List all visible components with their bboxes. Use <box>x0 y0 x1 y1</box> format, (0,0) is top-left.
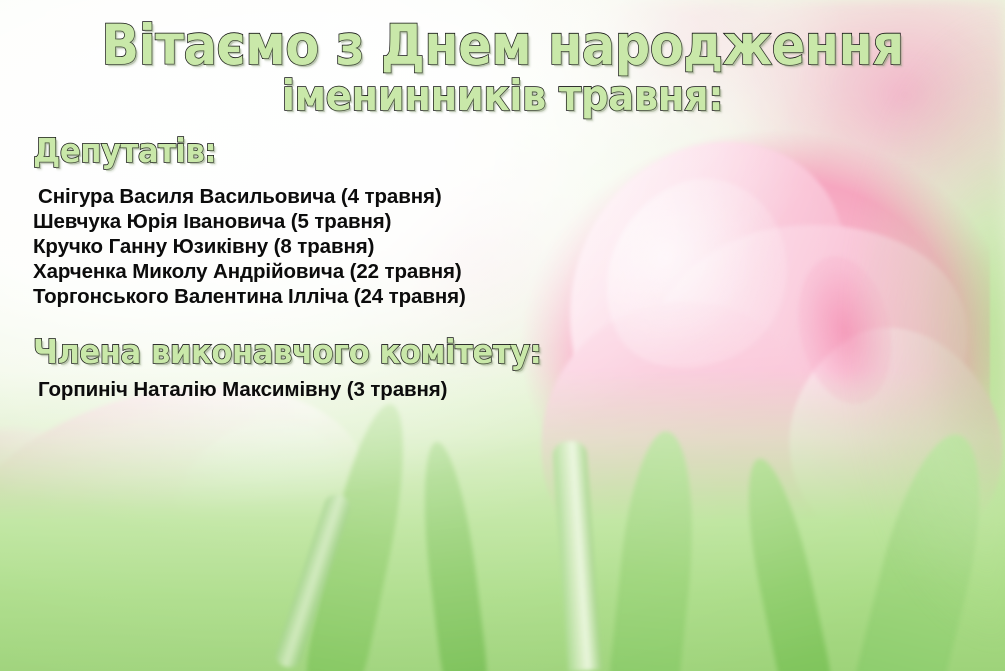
list-item: Кручко Ганну Юзиківну (8 травня) <box>33 234 466 259</box>
section-heading-deputies: Депутатів: <box>33 133 216 168</box>
deputies-name-list: Снігура Василя Васильовича (4 травня) Ше… <box>33 184 466 309</box>
list-item: Горпиніч Наталію Максимівну (3 травня) <box>33 377 447 402</box>
card-title-line-1: Вітаємо з Днем народження <box>50 16 955 74</box>
section-heading-committee: Члена виконавчого комітету: <box>33 334 541 369</box>
list-item: Шевчука Юрія Івановича (5 травня) <box>33 209 466 234</box>
list-item: Харченка Миколу Андрійовича (22 травня) <box>33 259 466 284</box>
card-title-line-2: іменинників травня: <box>40 73 965 118</box>
committee-name-list: Горпиніч Наталію Максимівну (3 травня) <box>33 377 447 402</box>
list-item: Торгонського Валентина Ілліча (24 травня… <box>33 284 466 309</box>
list-item: Снігура Василя Васильовича (4 травня) <box>33 184 466 209</box>
greeting-card: Вітаємо з Днем народження іменинників тр… <box>0 0 1005 671</box>
text-layer: Вітаємо з Днем народження іменинників тр… <box>0 0 1005 671</box>
